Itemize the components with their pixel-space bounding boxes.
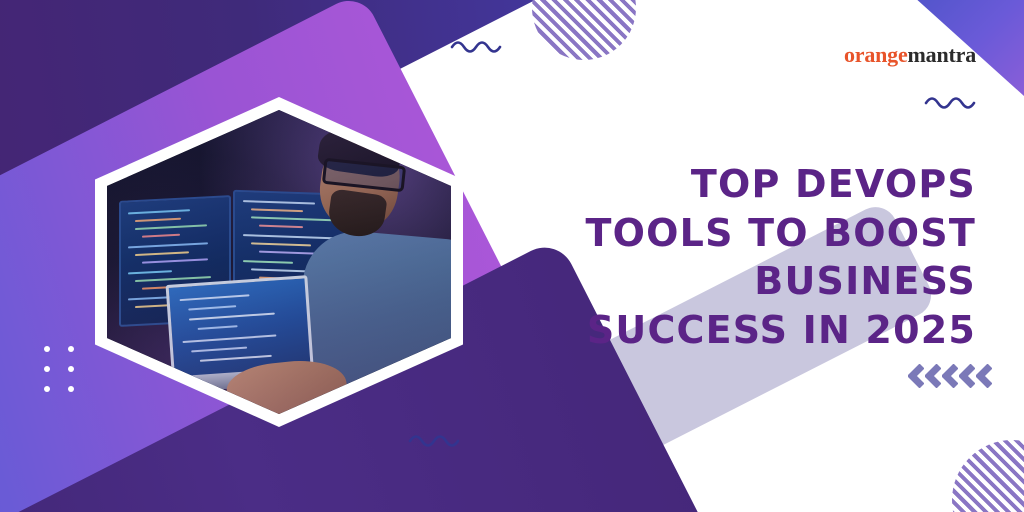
logo-text-mantra: mantra xyxy=(908,42,976,67)
chevron-left-icon xyxy=(942,364,958,388)
headline-line-4: SUCCESS IN 2025 xyxy=(524,306,976,355)
dot xyxy=(68,386,74,392)
dot xyxy=(44,386,50,392)
squiggle-wave-bottom xyxy=(408,430,466,452)
chevron-left-icon xyxy=(908,364,924,388)
logo-text-orange: orange xyxy=(844,42,908,67)
dot xyxy=(44,366,50,372)
chevron-left-icon xyxy=(976,364,992,388)
chevron-group-left xyxy=(908,364,992,388)
banner-canvas: orangemantra TOP DEVOPS TOOLS TO BOOST B… xyxy=(0,0,1024,512)
dot xyxy=(44,346,50,352)
dot xyxy=(68,346,74,352)
squiggle-wave-top-right xyxy=(924,92,982,114)
dot-grid-pattern xyxy=(44,346,74,392)
chevron-left-icon xyxy=(925,364,941,388)
striped-circle-bottom-right xyxy=(952,440,1024,512)
chevron-left-icon xyxy=(959,364,975,388)
squiggle-wave-top-left xyxy=(450,36,508,58)
headline-line-1: TOP DEVOPS xyxy=(524,160,976,209)
headline-line-3: BUSINESS xyxy=(524,257,976,306)
striped-circle-top xyxy=(532,0,636,60)
brand-logo[interactable]: orangemantra xyxy=(844,44,976,66)
page-title: TOP DEVOPS TOOLS TO BOOST BUSINESS SUCCE… xyxy=(524,160,976,355)
dot xyxy=(68,366,74,372)
headline-line-2: TOOLS TO BOOST xyxy=(524,209,976,258)
